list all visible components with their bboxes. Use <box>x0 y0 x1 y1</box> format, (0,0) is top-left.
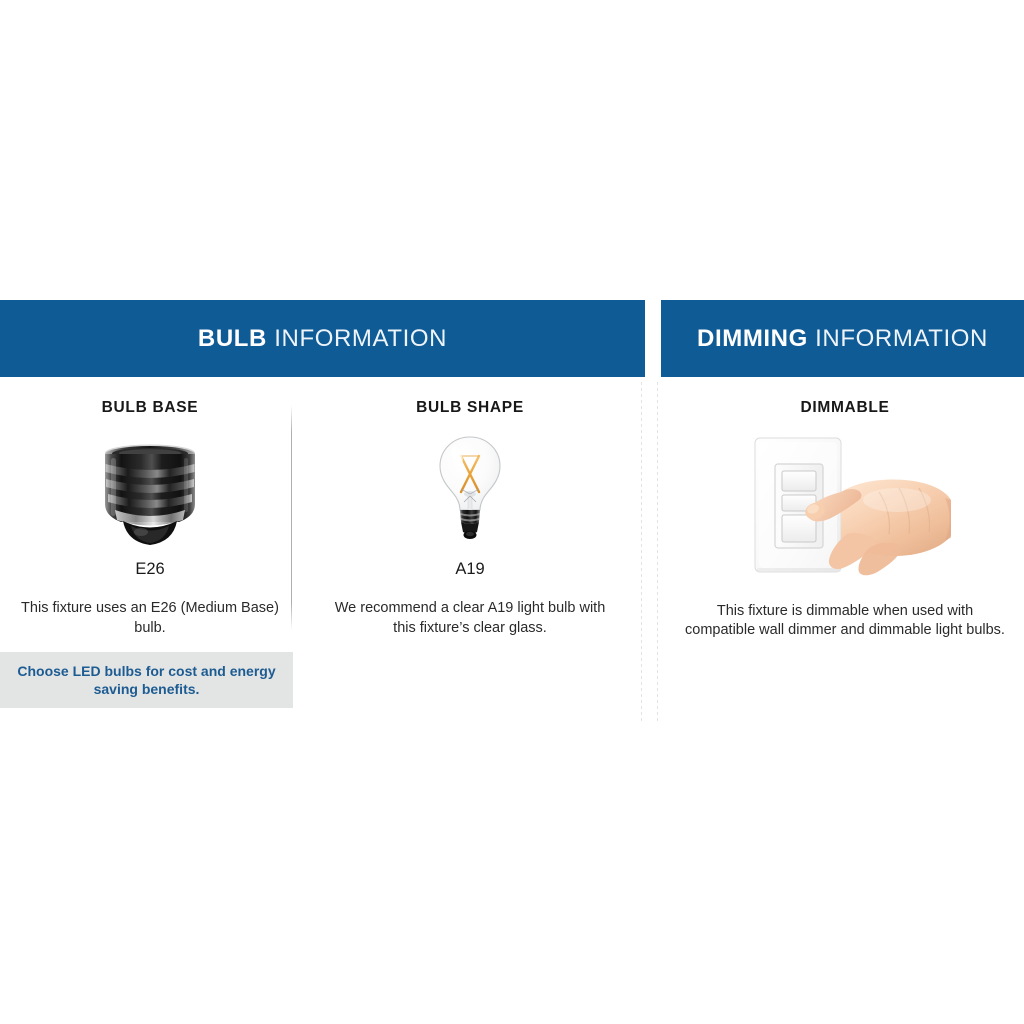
dimming-header-light-word: INFORMATION <box>808 325 988 352</box>
dimmable-description: This fixture is dimmable when used with … <box>680 602 1010 641</box>
bulb-a19-icon <box>431 434 509 546</box>
dimming-information-title: DIMMING INFORMATION <box>697 325 988 353</box>
feature-dimmable: DIMMABLE <box>680 400 1010 641</box>
bulb-columns-divider <box>291 405 292 630</box>
bulb-information-title: BULB INFORMATION <box>198 325 447 353</box>
dimming-information-header: DIMMING INFORMATION <box>661 300 1024 377</box>
dimming-header-strong-word: DIMMING <box>697 325 808 352</box>
bulb-information-header: BULB INFORMATION <box>0 300 645 377</box>
dimmable-art-slot <box>680 430 1010 578</box>
bulb-header-light-word: INFORMATION <box>267 325 447 352</box>
led-tip-callout: Choose LED bulbs for cost and energy sav… <box>0 652 293 708</box>
feature-bulb-base: BULB BASE <box>10 400 290 638</box>
bulb-header-strong-word: BULB <box>198 325 267 352</box>
bulb-base-spec-label: E26 <box>10 561 290 578</box>
led-tip-text: Choose LED bulbs for cost and energy sav… <box>0 662 293 698</box>
bulb-shape-art-slot <box>330 428 610 546</box>
dimmer-button-top <box>782 471 816 491</box>
feature-title-bulb-shape: BULB SHAPE <box>330 400 610 416</box>
feature-title-dimmable: DIMMABLE <box>680 400 1010 416</box>
bulb-base-art-slot <box>10 428 290 546</box>
feature-bulb-shape: BULB SHAPE <box>330 400 610 638</box>
bulb-base-e26-icon <box>91 442 209 546</box>
panel-gutter-divider-left <box>641 382 642 722</box>
bulb-shape-description: We recommend a clear A19 light bulb with… <box>330 599 610 638</box>
panel-gutter-divider-right <box>657 382 658 722</box>
bulb-dimming-info-graphic: BULB INFORMATION DIMMING INFORMATION BUL… <box>0 0 1024 1024</box>
feature-title-bulb-base: BULB BASE <box>10 400 290 416</box>
bulb-shape-spec-label: A19 <box>330 561 610 578</box>
bulb-base-description: This fixture uses an E26 (Medium Base) b… <box>10 599 290 638</box>
wall-dimmer-switch-hand-icon <box>729 430 961 578</box>
